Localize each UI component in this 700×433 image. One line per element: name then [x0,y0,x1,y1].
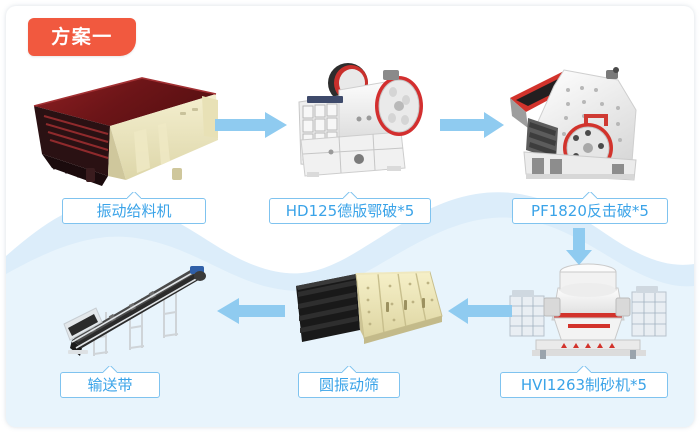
label-step-1[interactable]: 振动给料机 [62,198,206,224]
machine-sand-making [506,258,671,363]
label-step-2-text: HD125德版鄂破*5 [286,204,415,219]
flowchart-card: 方案一 [0,0,700,433]
arrow-left-1 [446,296,512,326]
label-step-3-text: PF1820反击破*5 [531,204,649,219]
label-step-2[interactable]: HD125德版鄂破*5 [269,198,431,224]
machine-jaw-crusher [293,56,443,191]
label-step-5[interactable]: 圆振动筛 [298,372,400,398]
label-step-5-text: 圆振动筛 [319,378,379,393]
label-notch-icon [342,366,356,373]
machine-conveyor-belt [52,264,212,364]
label-step-1-text: 振动给料机 [96,204,171,219]
label-notch-icon [343,192,357,199]
machine-vibrating-screen [294,264,449,359]
label-step-4-text: HVI1263制砂机*5 [521,378,647,393]
label-step-4[interactable]: HVI1263制砂机*5 [500,372,668,398]
label-notch-icon [127,192,141,199]
plan-badge-label: 方案一 [51,28,113,47]
plan-badge: 方案一 [28,18,136,56]
arrow-down-1 [564,228,594,266]
machine-impact-crusher [506,56,666,191]
arrow-right-2 [440,110,506,140]
label-step-6[interactable]: 输送带 [60,372,160,398]
card-frame: 方案一 [6,6,694,427]
label-notch-icon [583,192,597,199]
label-step-3[interactable]: PF1820反击破*5 [512,198,668,224]
label-notch-icon [577,366,591,373]
label-step-6-text: 输送带 [87,378,132,393]
label-notch-icon [103,366,117,373]
arrow-right-1 [215,110,289,140]
arrow-left-2 [215,296,285,326]
machine-vibrating-feeder [30,68,220,193]
